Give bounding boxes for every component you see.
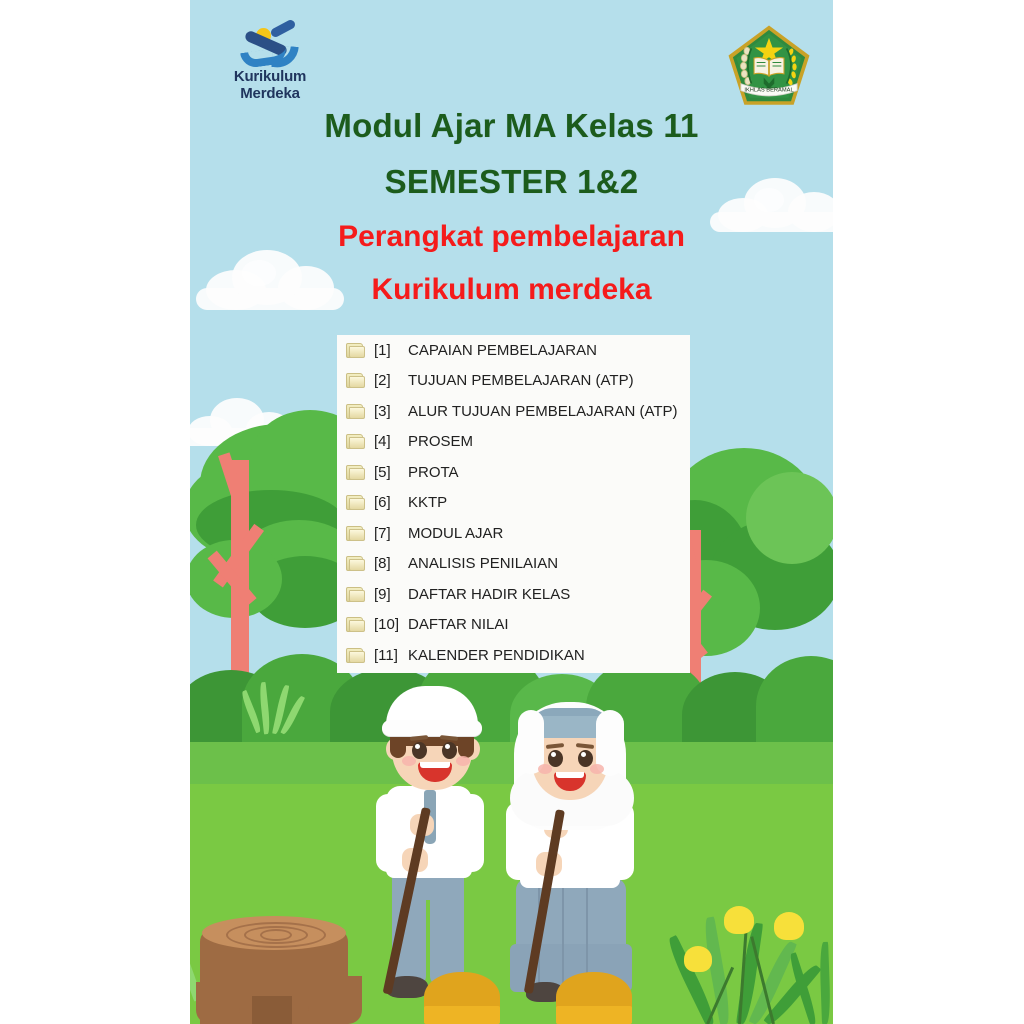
list-item-number: [11] (374, 647, 408, 664)
list-item[interactable]: [11] KALENDER PENDIDIKAN (337, 640, 690, 671)
list-item[interactable]: [2] TUJUAN PEMBELAJARAN (ATP) (337, 366, 690, 397)
list-item-label: KKTP (408, 494, 447, 511)
list-item-label: TUJUAN PEMBELAJARAN (ATP) (408, 372, 634, 389)
list-item[interactable]: [3] ALUR TUJUAN PEMBELAJARAN (ATP) (337, 396, 690, 427)
list-item-label: KALENDER PENDIDIKAN (408, 647, 585, 664)
list-item-label: CAPAIAN PEMBELAJARAN (408, 342, 597, 359)
boy-student (368, 690, 518, 1024)
list-item[interactable]: [9] DAFTAR HADIR KELAS (337, 579, 690, 610)
poster-canvas: Kurikulum Merdeka (0, 0, 1024, 1024)
logo-line-1: Kurikulum (220, 68, 320, 85)
list-item-label: PROTA (408, 464, 459, 481)
list-item-label: ANALISIS PENILAIAN (408, 555, 558, 572)
kemenag-emblem: IKHLAS BERAMAL (725, 22, 813, 110)
contents-panel: [1] CAPAIAN PEMBELAJARAN [2] TUJUAN PEMB… (337, 335, 690, 673)
list-item-number: [5] (374, 464, 408, 481)
logo-swoosh-4 (271, 45, 298, 69)
list-item-number: [2] (374, 372, 408, 389)
flower-head (724, 906, 754, 934)
list-item-number: [9] (374, 586, 408, 603)
flower-head (684, 946, 712, 972)
folder-icon (346, 525, 365, 542)
heading-line-4: Kurikulum merdeka (190, 263, 833, 316)
folder-icon (346, 647, 365, 664)
emblem-open-book (754, 58, 784, 77)
list-item-label: DAFTAR HADIR KELAS (408, 586, 570, 603)
list-item[interactable]: [5] PROTA (337, 457, 690, 488)
list-item-number: [3] (374, 403, 408, 420)
list-item[interactable]: [6] KKTP (337, 488, 690, 519)
poster: Kurikulum Merdeka (190, 0, 833, 1024)
list-item-label: DAFTAR NILAI (408, 616, 509, 633)
logo-wordmark: Kurikulum Merdeka (220, 68, 320, 102)
list-item-number: [7] (374, 525, 408, 542)
heading-line-2: SEMESTER 1&2 (190, 154, 833, 210)
heading-line-1: Modul Ajar MA Kelas 11 (190, 98, 833, 154)
heading-line-3: Perangkat pembelajaran (190, 210, 833, 263)
kurikulum-merdeka-logo: Kurikulum Merdeka (220, 22, 320, 107)
list-item[interactable]: [4] PROSEM (337, 427, 690, 458)
list-item-number: [6] (374, 494, 408, 511)
folder-icon (346, 433, 365, 450)
folder-icon (346, 555, 365, 572)
heading-block: Modul Ajar MA Kelas 11 SEMESTER 1&2 Pera… (190, 98, 833, 316)
list-item-label: MODUL AJAR (408, 525, 503, 542)
students-illustration (368, 690, 668, 1024)
list-item[interactable]: [8] ANALISIS PENILAIAN (337, 549, 690, 580)
folder-icon (346, 464, 365, 481)
folder-icon (346, 342, 365, 359)
folder-icon (346, 372, 365, 389)
list-item-number: [10] (374, 616, 408, 633)
list-item[interactable]: [1] CAPAIAN PEMBELAJARAN (337, 335, 690, 366)
list-item-label: PROSEM (408, 433, 473, 450)
folder-icon (346, 494, 365, 511)
list-item-number: [1] (374, 342, 408, 359)
folder-icon (346, 586, 365, 603)
list-item-label: ALUR TUJUAN PEMBELAJARAN (ATP) (408, 403, 678, 420)
flower-head (774, 912, 804, 940)
emblem-banner-text: IKHLAS BERAMAL (744, 88, 793, 94)
logo-swoosh-1 (269, 18, 296, 38)
list-item[interactable]: [10] DAFTAR NILAI (337, 610, 690, 641)
folder-icon (346, 403, 365, 420)
list-item-number: [8] (374, 555, 408, 572)
list-item-number: [4] (374, 433, 408, 450)
list-item[interactable]: [7] MODUL AJAR (337, 518, 690, 549)
girl-student (500, 696, 660, 1024)
folder-icon (346, 616, 365, 633)
